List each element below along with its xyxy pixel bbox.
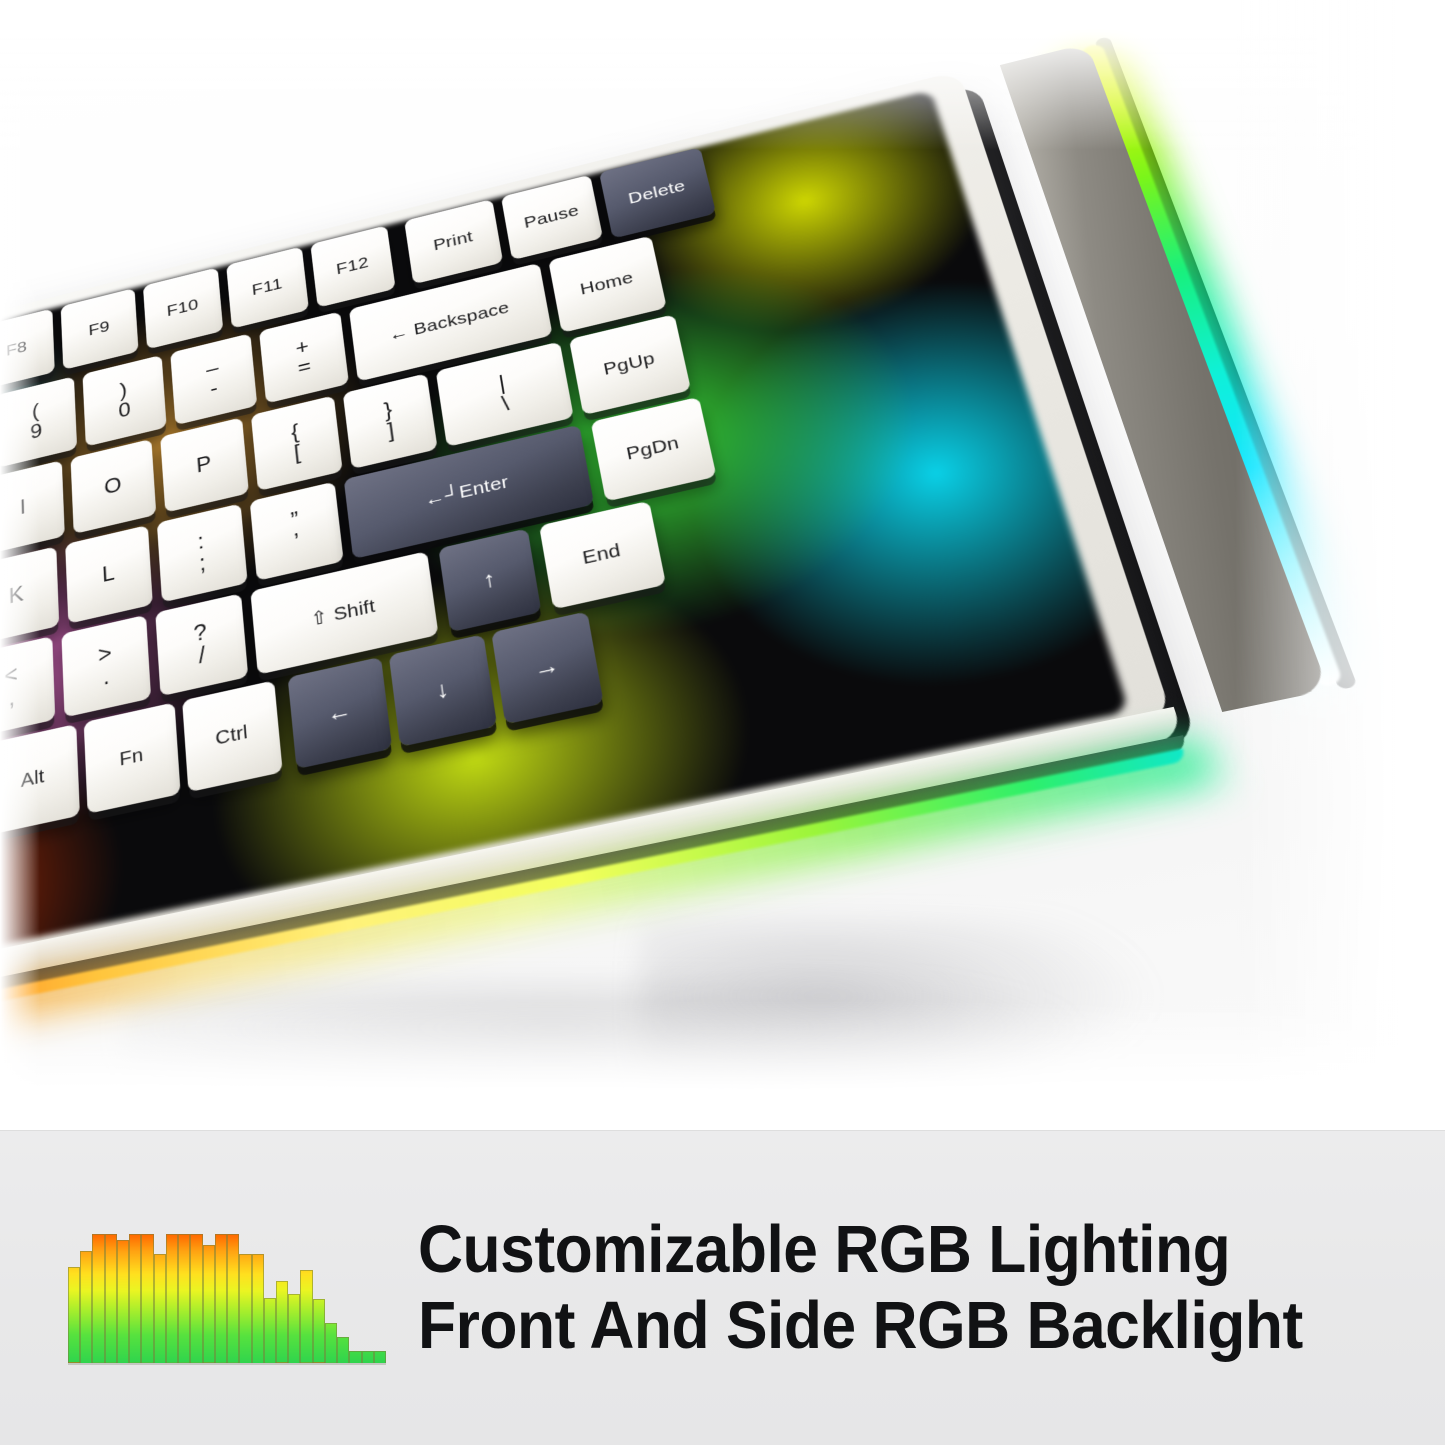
- key-o[interactable]: O: [71, 439, 157, 534]
- equalizer-bar: [252, 1254, 264, 1363]
- headline-line-2: Front And Side RGB Backlight: [418, 1288, 1357, 1364]
- key-label-bottom: \: [500, 393, 510, 416]
- key-ctrl[interactable]: Ctrl: [182, 680, 283, 792]
- key-arrow-down[interactable]: ↓: [389, 634, 498, 747]
- equalizer-bar: [117, 1240, 129, 1363]
- key-legend-stack: ? /: [193, 620, 210, 669]
- key-label-bottom: .: [102, 665, 110, 690]
- photo-fade-left: [0, 0, 40, 1130]
- key-label-top: –: [205, 358, 219, 381]
- key-legend-stack: } ]: [383, 399, 397, 443]
- key-label: Fn: [119, 744, 144, 771]
- equalizer-bar: [154, 1254, 166, 1363]
- product-image: F5 F6 F7 F8 F9 F10 F11 F12 Print Pause D…: [0, 0, 1445, 1445]
- key-pgdn[interactable]: PgDn: [591, 397, 717, 502]
- equalizer-bar: [362, 1351, 374, 1363]
- key-label-bottom: -: [209, 378, 218, 400]
- key-legend-stack: ) 0: [117, 379, 132, 422]
- equalizer-bar: [141, 1234, 153, 1363]
- key-label: F11: [251, 275, 283, 300]
- key-legend-stack: | \: [497, 372, 511, 415]
- equalizer-bar: [300, 1270, 312, 1363]
- equalizer-bar: [264, 1298, 276, 1363]
- key-legend-stack: > .: [98, 641, 114, 690]
- headline-line-1: Customizable RGB Lighting: [418, 1212, 1357, 1288]
- key-label: Pause: [523, 202, 581, 233]
- key-fn[interactable]: Fn: [84, 702, 181, 814]
- equalizer-bar: [288, 1294, 300, 1363]
- equalizer-bar: [166, 1234, 178, 1363]
- key-label: Print: [432, 228, 474, 255]
- key-label-bottom: 0: [118, 399, 131, 422]
- equalizer-bar: [239, 1254, 251, 1363]
- key-label-bottom: =: [297, 356, 312, 379]
- key-legend-stack: ” ’: [290, 508, 303, 554]
- key-minus[interactable]: – -: [170, 333, 257, 425]
- key-arrow-left[interactable]: ←: [288, 657, 393, 769]
- equalizer-graphic: [68, 1224, 386, 1369]
- key-period[interactable]: > .: [61, 615, 151, 718]
- key-label: O: [104, 473, 123, 500]
- key-quote[interactable]: ” ’: [250, 482, 344, 581]
- key-arrow-right[interactable]: →: [491, 611, 604, 724]
- equalizer-bar: [325, 1323, 337, 1363]
- key-label-bottom: ;: [198, 552, 206, 576]
- key-label: F10: [166, 296, 199, 321]
- photo-fade-bottom: [0, 1000, 1445, 1130]
- equalizer-bar: [374, 1351, 386, 1363]
- key-0[interactable]: ) 0: [82, 355, 166, 447]
- key-label: PgUp: [602, 349, 657, 380]
- key-label-bottom: /: [198, 644, 207, 669]
- key-label: ⇧ Shift: [310, 595, 377, 631]
- equalizer-bar: [190, 1234, 202, 1363]
- key-label-top: ”: [290, 508, 300, 532]
- equalizer-bars: [68, 1224, 386, 1363]
- key-label-bottom: ]: [386, 420, 395, 443]
- key-label-bottom: ’: [293, 530, 301, 553]
- equalizer-bar: [203, 1245, 215, 1363]
- key-label: Delete: [627, 177, 687, 208]
- key-label: PgDn: [625, 433, 681, 465]
- key-label-top: ?: [193, 620, 208, 646]
- key-label: →: [532, 651, 562, 683]
- equalizer-bar: [178, 1234, 190, 1363]
- equalizer-bar: [92, 1234, 104, 1363]
- key-label: P: [195, 451, 212, 478]
- photo-fade-right: [1235, 0, 1445, 1130]
- key-label: ↓: [434, 675, 450, 704]
- key-l[interactable]: L: [65, 525, 153, 624]
- keyboard-product-photo: F5 F6 F7 F8 F9 F10 F11 F12 Print Pause D…: [0, 0, 1445, 1130]
- key-pgup[interactable]: PgUp: [569, 314, 691, 415]
- key-label-bottom: [: [293, 442, 302, 465]
- key-p[interactable]: P: [160, 417, 249, 512]
- equalizer-bar: [68, 1267, 80, 1363]
- key-label: F9: [88, 317, 110, 340]
- key-label: F12: [335, 254, 369, 279]
- equalizer-bar: [105, 1234, 117, 1363]
- key-label-top: :: [197, 530, 205, 553]
- key-label-top: |: [497, 372, 507, 394]
- key-label: ↑: [481, 566, 497, 594]
- equalizer-bar: [276, 1281, 288, 1363]
- equalizer-bar: [349, 1351, 361, 1363]
- banner-divider: [0, 1130, 1445, 1131]
- banner-headline: Customizable RGB Lighting Front And Side…: [418, 1212, 1428, 1363]
- equalizer-baseline: [68, 1363, 386, 1365]
- equalizer-bar: [80, 1251, 92, 1363]
- equalizer-bar: [337, 1337, 349, 1363]
- equalizer-bar: [129, 1234, 141, 1363]
- key-equals[interactable]: + =: [259, 311, 349, 403]
- key-label: L: [101, 561, 115, 588]
- key-label: Home: [579, 268, 635, 299]
- key-label: ← Backspace: [388, 298, 510, 345]
- key-label: ←┘Enter: [424, 472, 510, 511]
- equalizer-bar: [227, 1234, 239, 1363]
- key-legend-stack: + =: [295, 336, 313, 379]
- key-legend-stack: { [: [290, 421, 302, 465]
- key-home[interactable]: Home: [548, 236, 667, 333]
- key-legend-stack: – -: [205, 358, 221, 401]
- photo-fade-top: [0, 0, 1445, 150]
- key-label: End: [581, 540, 623, 569]
- equalizer-bar: [215, 1234, 227, 1363]
- equalizer-bar: [313, 1299, 325, 1363]
- key-label-top: >: [98, 641, 113, 667]
- key-bracket-left[interactable]: { [: [251, 395, 343, 491]
- key-label: ←: [325, 696, 353, 728]
- key-semicolon[interactable]: : ;: [157, 503, 248, 602]
- key-legend-stack: : ;: [197, 530, 207, 575]
- key-bracket-right[interactable]: } ]: [343, 373, 438, 469]
